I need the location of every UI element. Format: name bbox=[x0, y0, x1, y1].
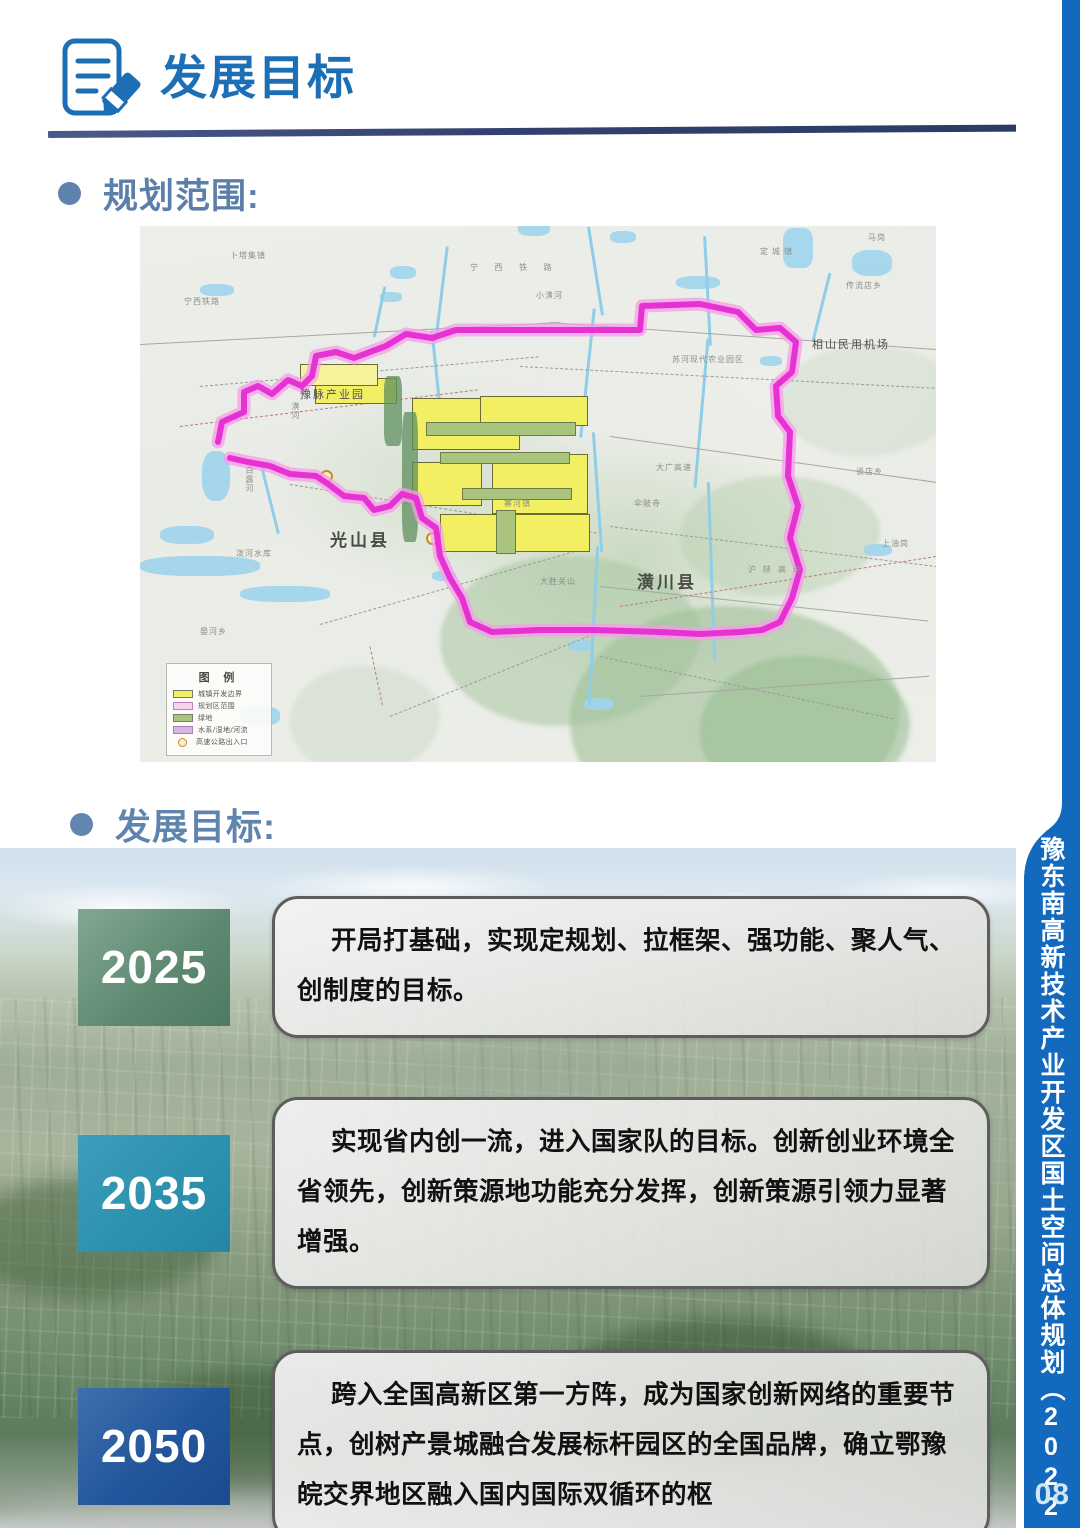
map-label: 豫脉产业园 bbox=[300, 386, 365, 402]
map-label: 传流店乡 bbox=[846, 280, 882, 291]
map-label: 马岗 bbox=[868, 232, 886, 243]
map-label: 潢川县 bbox=[637, 568, 697, 593]
bullet-icon bbox=[70, 813, 93, 836]
map-label: 定城镇 bbox=[760, 246, 796, 257]
map-water bbox=[432, 571, 456, 581]
map-terrain bbox=[290, 666, 440, 762]
right-sidebar: 豫东南高新技术产业开发区国土空间总体规划（2022-2035年） 08 bbox=[1016, 0, 1080, 1528]
map-label: 光山县 bbox=[330, 526, 390, 551]
map-water bbox=[852, 250, 892, 276]
map-label: 白露河 bbox=[244, 466, 255, 493]
legend-item: 规划区范围 bbox=[173, 701, 265, 711]
map-zone-forest bbox=[384, 376, 402, 446]
goal-text-2050: 跨入全国高新区第一方阵，成为国家创新网络的重要节点，创树产景城融合发展标杆园区的… bbox=[272, 1350, 990, 1528]
map-label: 大广高速 bbox=[656, 462, 692, 473]
sidebar-vertical-title: 豫东南高新技术产业开发区国土空间总体规划（2022-2035年） bbox=[1030, 836, 1072, 1476]
map-label: 伞陂寺 bbox=[634, 498, 661, 509]
map-label: 卜塔集镇 bbox=[230, 250, 266, 261]
map-water bbox=[676, 276, 720, 289]
map-zone-green bbox=[426, 422, 576, 436]
section-heading-goals: 发展目标: bbox=[70, 798, 276, 850]
section-label-goals: 发展目标: bbox=[115, 798, 276, 850]
map-canvas: 潢川县 光山县 豫脉产业园 苏河现代农业园区 相山民用机场 宁西铁路 宁 西 铁… bbox=[140, 226, 936, 762]
page-number: 08 bbox=[1035, 1478, 1070, 1512]
map-water bbox=[140, 556, 260, 576]
map-zone-industrial-park bbox=[300, 364, 378, 386]
map-label: 晏河乡 bbox=[200, 626, 227, 637]
header-divider bbox=[48, 124, 1036, 138]
map-label: 泼河水库 bbox=[236, 548, 272, 559]
map-interchange-icon bbox=[320, 470, 333, 483]
map-label: 沪陕高速 bbox=[748, 564, 808, 575]
goal-text-2025: 开局打基础，实现定规划、拉框架、强功能、聚人气、创制度的目标。 bbox=[272, 896, 990, 1038]
map-label: 潢河 bbox=[290, 402, 301, 420]
page-header: 发展目标 bbox=[0, 0, 1020, 150]
map-label: 上油岗 bbox=[882, 538, 909, 549]
section-heading-scope: 规划范围: bbox=[58, 168, 260, 219]
map-zone-green bbox=[440, 452, 570, 464]
map-legend: 图 例 城镇开发边界 规划区范围 绿地 水系/湿地/河流 bbox=[166, 663, 272, 756]
map-water bbox=[160, 526, 214, 544]
planning-scope-map[interactable]: 潢川县 光山县 豫脉产业园 苏河现代农业园区 相山民用机场 宁西铁路 宁 西 铁… bbox=[140, 226, 936, 762]
slide-page: 发展目标 规划范围: bbox=[0, 0, 1080, 1528]
map-label: 大胜关山 bbox=[540, 576, 576, 587]
legend-swatch-urban bbox=[173, 690, 193, 698]
map-water bbox=[610, 231, 636, 243]
legend-label: 水系/湿地/河流 bbox=[198, 725, 248, 735]
legend-item: 高速公路出入口 bbox=[173, 737, 265, 747]
map-water bbox=[390, 266, 416, 279]
legend-item: 绿地 bbox=[173, 713, 265, 723]
legend-title: 图 例 bbox=[173, 669, 265, 685]
page-title: 发展目标 bbox=[160, 45, 356, 111]
map-water bbox=[760, 356, 782, 366]
sidebar-shape bbox=[1016, 0, 1080, 1528]
legend-swatch-green bbox=[173, 714, 193, 722]
map-interchange-icon bbox=[426, 532, 439, 545]
map-zone-forest bbox=[402, 412, 418, 542]
legend-label: 规划区范围 bbox=[198, 701, 235, 711]
map-label: 宁 西 铁 路 bbox=[470, 262, 559, 273]
legend-swatch-water bbox=[173, 726, 193, 734]
map-water bbox=[240, 586, 330, 602]
legend-label: 高速公路出入口 bbox=[196, 737, 248, 747]
map-water bbox=[202, 451, 230, 501]
legend-item: 城镇开发边界 bbox=[173, 689, 265, 699]
legend-item: 水系/湿地/河流 bbox=[173, 725, 265, 735]
map-label: 小潢河 bbox=[536, 290, 563, 301]
map-zone-green bbox=[496, 510, 516, 554]
map-label: 谈店乡 bbox=[856, 466, 883, 477]
map-terrain bbox=[780, 346, 936, 456]
map-water bbox=[200, 284, 234, 296]
goal-row-2050: 2050 跨入全国高新区第一方阵，成为国家创新网络的重要节点，创树产景城融合发展… bbox=[78, 1350, 990, 1528]
bullet-icon bbox=[58, 182, 81, 205]
year-badge-2025: 2025 bbox=[78, 909, 230, 1026]
goal-text-2035: 实现省内创一流，进入国家队的目标。创新创业环境全省领先，创新策源地功能充分发挥，… bbox=[272, 1097, 990, 1289]
legend-label: 城镇开发边界 bbox=[198, 689, 242, 699]
goal-row-2035: 2035 实现省内创一流，进入国家队的目标。创新创业环境全省领先，创新策源地功能… bbox=[78, 1097, 990, 1289]
legend-swatch-interchange bbox=[178, 738, 187, 747]
map-label: 宁西铁路 bbox=[184, 296, 220, 307]
legend-label: 绿地 bbox=[198, 713, 213, 723]
map-water bbox=[518, 226, 550, 236]
map-label: 相山民用机场 bbox=[812, 336, 890, 352]
map-label: 寨河镇 bbox=[504, 498, 531, 509]
document-pencil-icon bbox=[58, 36, 142, 120]
goal-row-2025: 2025 开局打基础，实现定规划、拉框架、强功能、聚人气、创制度的目标。 bbox=[78, 896, 990, 1038]
year-badge-2050: 2050 bbox=[78, 1388, 230, 1505]
section-label-scope: 规划范围: bbox=[103, 168, 260, 219]
legend-swatch-scope bbox=[173, 702, 193, 710]
year-badge-2035: 2035 bbox=[78, 1135, 230, 1252]
map-label: 苏河现代农业园区 bbox=[672, 354, 744, 365]
